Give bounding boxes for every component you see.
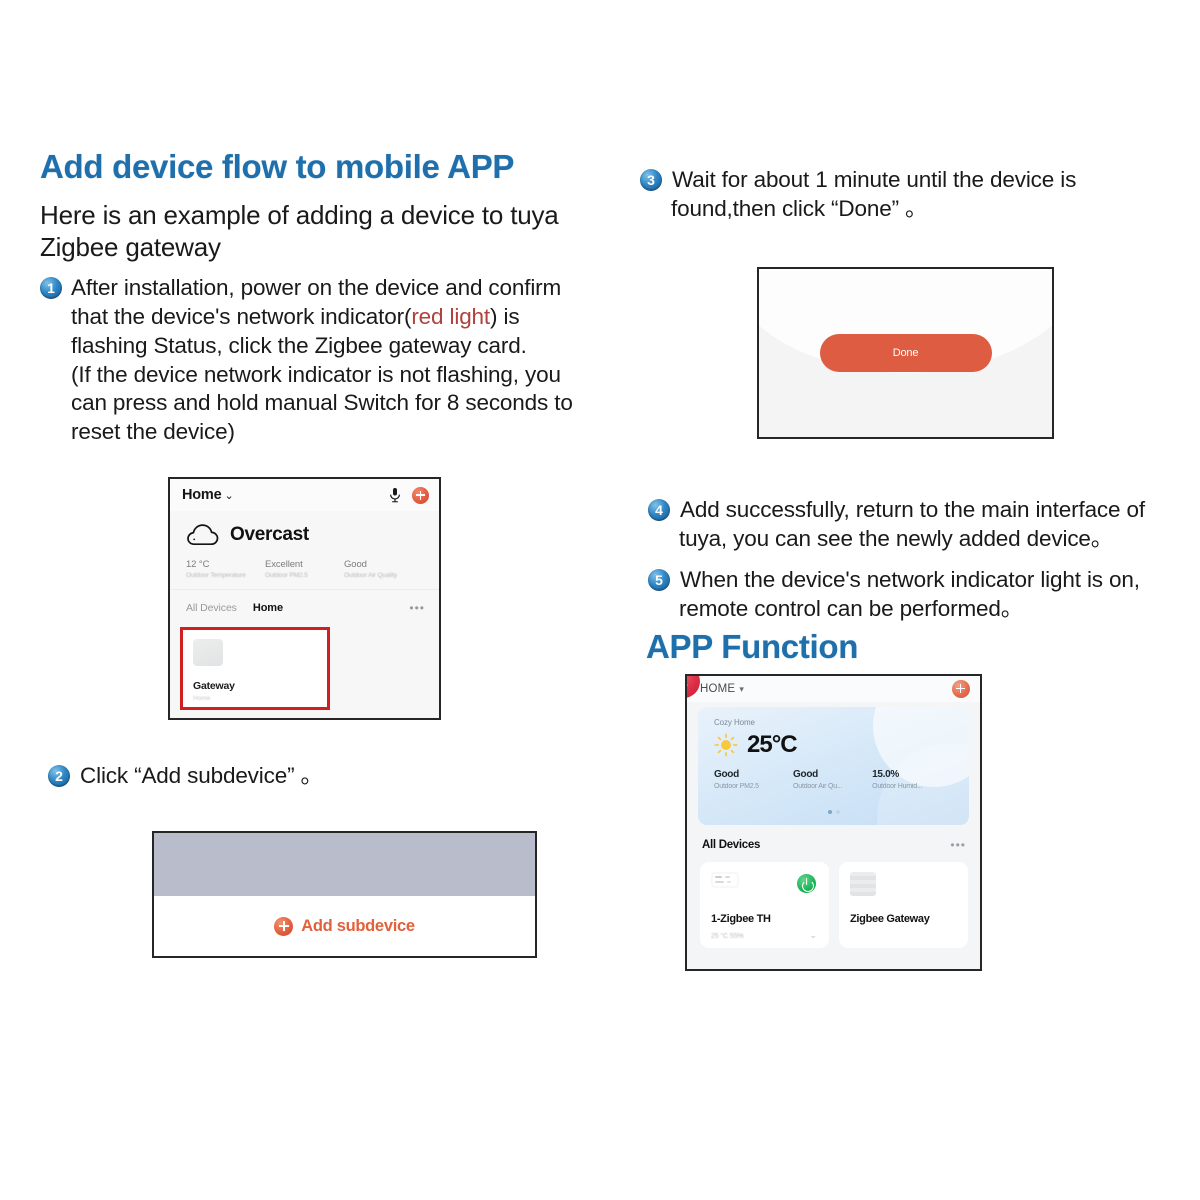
weather-stat: Good Outdoor PM2.5 [714, 769, 793, 790]
step-4-text: Add successfully, return to the main int… [679, 497, 1145, 551]
chevron-down-icon[interactable]: ▾ [739, 684, 744, 695]
intro-text: Here is an example of adding a device to… [40, 199, 600, 265]
page-title: Add device flow to mobile APP [40, 150, 600, 185]
gateway-card-highlight[interactable]: Gateway Home [180, 627, 330, 710]
gateway-card-name: Gateway [193, 680, 327, 692]
page-root: Add device flow to mobile APP Here is an… [0, 0, 1200, 1200]
home-dropdown-label[interactable]: Home [182, 487, 222, 503]
mock-add-subdevice-screen: Add subdevice [152, 831, 537, 958]
weather-stat-value: 12 °C [186, 559, 265, 570]
step-1-red-text: red light [411, 304, 490, 329]
weather-card[interactable]: Cozy Home 25°C [698, 707, 969, 825]
home-dropdown-label[interactable]: HOME [700, 683, 735, 695]
tab-home[interactable]: Home [253, 602, 283, 614]
device-status: 25 °C 55% [711, 933, 744, 940]
step-2: 2Click “Add subdevice” 。 [48, 762, 568, 791]
step-1: 1After installation, power on the device… [40, 274, 600, 360]
placeholder-band [154, 833, 535, 896]
all-devices-header: All Devices ••• [687, 825, 980, 852]
device-card-list: 1-Zigbee TH 25 °C 55% ⌄ Zigbee Gateway [687, 852, 980, 948]
cloud-icon [186, 523, 220, 546]
weather-row: Overcast [186, 523, 425, 546]
temperature-row: 25°C [698, 727, 969, 759]
step-5-number: 5 [648, 569, 670, 591]
step-3-number: 3 [640, 169, 662, 191]
microphone-icon[interactable] [388, 487, 402, 503]
device-card-zigbee-th[interactable]: 1-Zigbee TH 25 °C 55% ⌄ [700, 862, 829, 948]
step-2-number: 2 [48, 765, 70, 787]
gateway-card-sub: Home [193, 695, 327, 702]
weather-stat-value: 15.0% [872, 769, 951, 780]
more-options-icon[interactable]: ••• [950, 838, 966, 852]
gateway-icon [850, 872, 876, 896]
weather-stat-value: Excellent [265, 559, 344, 570]
add-device-button[interactable] [412, 487, 429, 504]
weather-stat: 12 °C Outdoor Temperature [186, 559, 265, 579]
app-topbar: HOME ▾ [687, 676, 980, 702]
mock-app-function-screen: 1 HOME ▾ Cozy Home [685, 674, 982, 971]
weather-stat-label: Outdoor PM2.5 [265, 572, 344, 579]
step-4: 4Add successfully, return to the main in… [648, 496, 1186, 554]
weather-stat: Excellent Outdoor PM2.5 [265, 559, 344, 579]
pager-dot-active[interactable] [828, 810, 832, 814]
step-5: 5When the device's network indicator lig… [648, 566, 1188, 624]
add-icon[interactable] [274, 917, 293, 936]
step-4-number: 4 [648, 499, 670, 521]
power-icon[interactable] [797, 874, 816, 893]
device-name: Zigbee Gateway [850, 913, 930, 925]
temperature-value: 25°C [747, 731, 797, 759]
carousel-pager[interactable] [698, 801, 969, 819]
step-1-note: (If the device network indicator is not … [40, 361, 600, 447]
weather-stats: Good Outdoor PM2.5 Good Outdoor Air Qu..… [698, 759, 969, 790]
thermo-display-icon [711, 872, 739, 888]
step-3: 3Wait for about 1 minute until the devic… [640, 166, 1180, 224]
weather-panel: Overcast [170, 511, 439, 546]
device-tabs: All Devices Home ••• [170, 589, 439, 615]
mock-tuya-home-screen: Home ⌄ Overcast [168, 477, 441, 720]
device-name: 1-Zigbee TH [711, 913, 771, 925]
pager-dot[interactable] [836, 810, 840, 814]
tab-all-devices[interactable]: All Devices [186, 602, 237, 614]
done-button[interactable]: Done [820, 334, 992, 372]
device-card-zigbee-gateway[interactable]: Zigbee Gateway [839, 862, 968, 948]
chevron-down-icon[interactable]: ⌄ [809, 930, 817, 941]
weather-condition: Overcast [230, 524, 309, 546]
weather-stat-label: Outdoor PM2.5 [714, 783, 793, 790]
all-devices-label: All Devices [702, 839, 760, 851]
weather-stat-value: Good [793, 769, 872, 780]
weather-stat: Good Outdoor Air Quality [344, 559, 423, 579]
chevron-down-icon[interactable]: ⌄ [225, 489, 234, 502]
weather-stat-label: Outdoor Air Quality [344, 572, 423, 579]
gateway-icon [193, 639, 223, 666]
weather-stat: 15.0% Outdoor Humid... [872, 769, 951, 790]
left-column: Add device flow to mobile APP Here is an… [40, 150, 600, 447]
step-2-text: Click “Add subdevice” 。 [79, 763, 323, 788]
gateway-card[interactable]: Gateway Home [183, 630, 327, 702]
add-subdevice-row[interactable]: Add subdevice [154, 896, 535, 956]
weather-stat-label: Outdoor Temperature [186, 572, 265, 579]
weather-stat-value: Good [344, 559, 423, 570]
add-subdevice-label[interactable]: Add subdevice [301, 917, 414, 936]
sun-icon [714, 733, 738, 757]
step-1-number: 1 [40, 277, 62, 299]
weather-stat-value: Good [714, 769, 793, 780]
step-5-text: When the device's network indicator ligh… [679, 567, 1140, 621]
mock-done-screen: Done [757, 267, 1054, 439]
step-3-text: Wait for about 1 minute until the device… [671, 167, 1076, 221]
home-name-label: Cozy Home [698, 707, 969, 727]
mock-home-topbar: Home ⌄ [170, 479, 439, 511]
microphone-glyph [388, 487, 402, 503]
add-device-button[interactable] [952, 680, 970, 698]
app-function-title: APP Function [646, 630, 858, 665]
weather-stat-label: Outdoor Humid... [872, 783, 951, 790]
weather-stat-label: Outdoor Air Qu... [793, 783, 872, 790]
more-options-icon[interactable]: ••• [409, 601, 425, 615]
weather-stat: Good Outdoor Air Qu... [793, 769, 872, 790]
right-column: 3Wait for about 1 minute until the devic… [640, 150, 1180, 224]
weather-stats: 12 °C Outdoor Temperature Excellent Outd… [170, 559, 439, 579]
